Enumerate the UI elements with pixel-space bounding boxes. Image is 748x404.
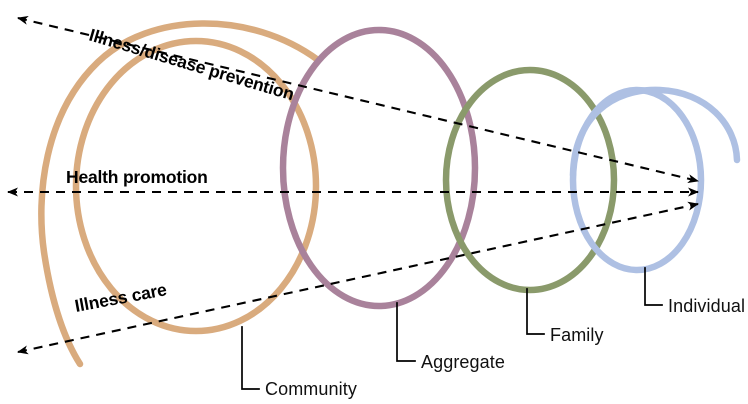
axis-label-illness-care: Illness care bbox=[73, 279, 168, 316]
callout-leader-individual bbox=[645, 268, 662, 305]
axis-label-promotion: Health promotion bbox=[66, 167, 208, 187]
ring-family bbox=[446, 70, 614, 290]
ring-individual-spiral bbox=[573, 90, 737, 175]
callout-aggregate: Aggregate bbox=[397, 303, 505, 372]
callout-label-aggregate: Aggregate bbox=[421, 352, 505, 372]
callout-label-family: Family bbox=[550, 325, 604, 345]
callout-community: Community bbox=[242, 327, 357, 399]
callout-label-community: Community bbox=[265, 379, 357, 399]
levels-of-care-diagram: Illness/disease prevention Health promot… bbox=[0, 0, 748, 404]
diagram-canvas: Illness/disease prevention Health promot… bbox=[0, 0, 748, 404]
callout-leader-aggregate bbox=[397, 303, 415, 361]
ring-group bbox=[41, 23, 737, 364]
callout-individual: Individual bbox=[645, 268, 745, 316]
callout-leader-community bbox=[242, 327, 259, 389]
callout-label-individual: Individual bbox=[668, 296, 745, 316]
callout-leader-family bbox=[527, 289, 544, 334]
callout-family: Family bbox=[527, 289, 604, 345]
